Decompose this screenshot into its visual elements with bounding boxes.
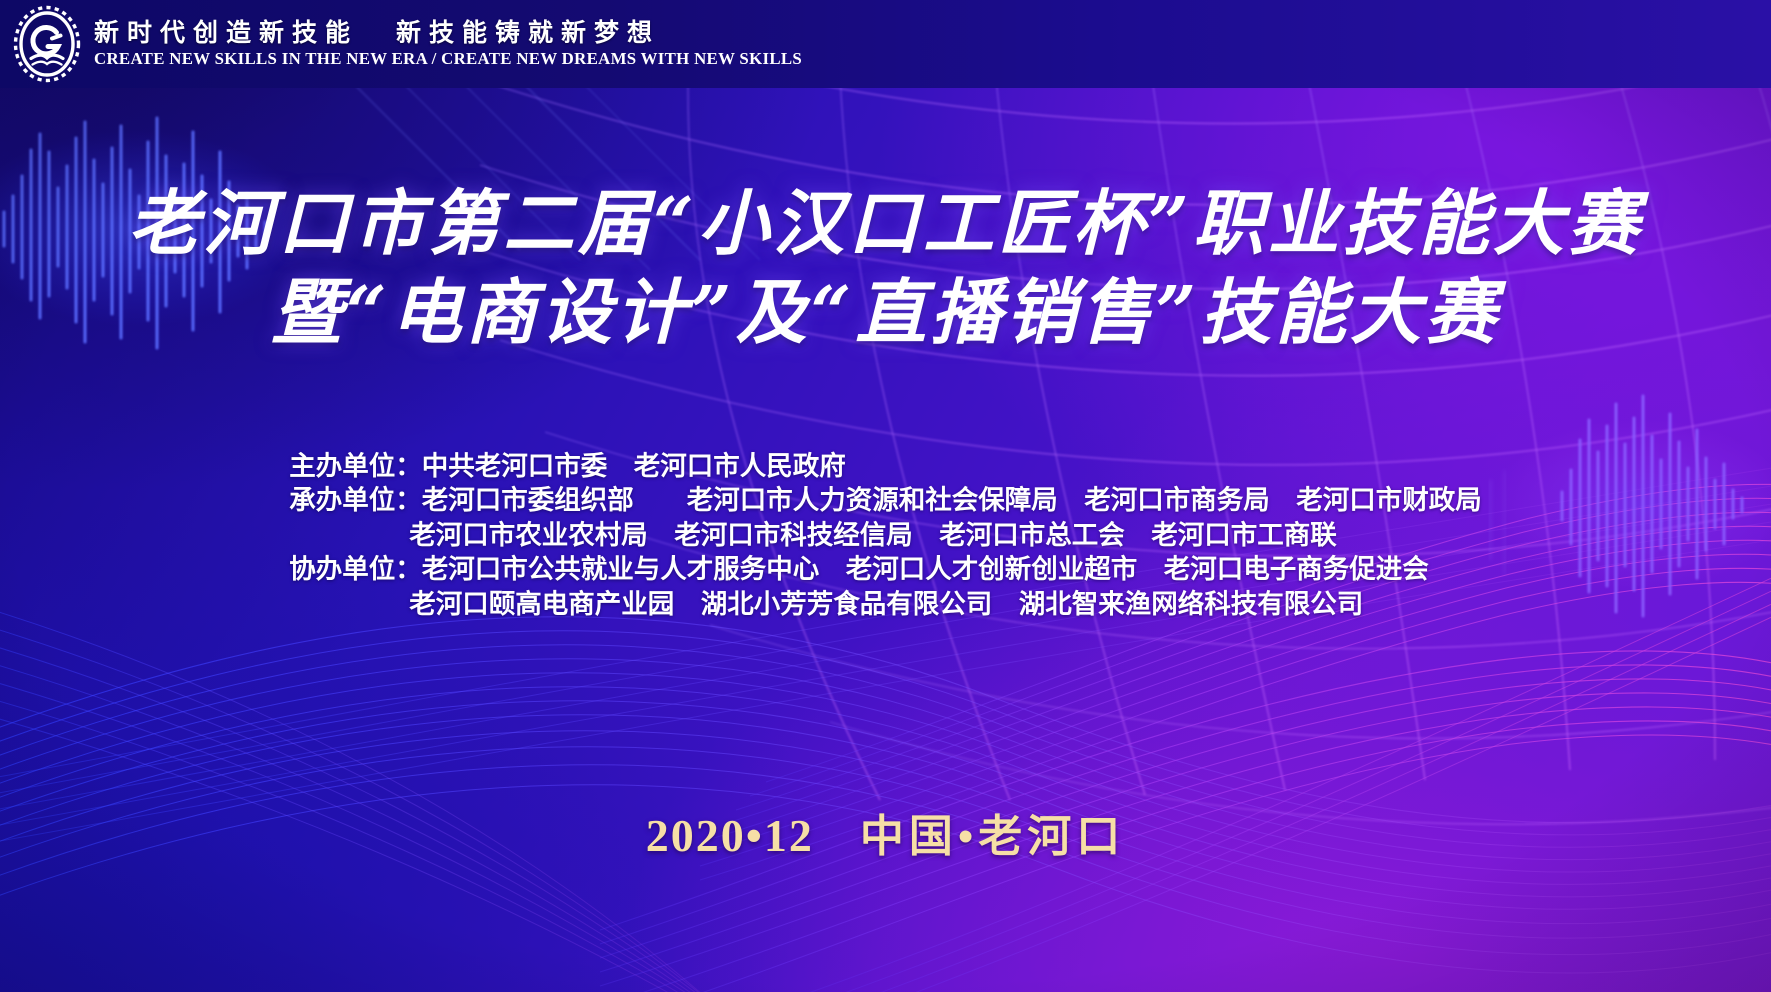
organizer-value-2: 老河口市农业农村局 老河口市科技经信局 老河口市总工会 老河口市工商联	[409, 520, 1337, 550]
header-slogan-chinese-b: 新技能铸就新梦想	[396, 20, 660, 47]
host-row: 主办单位：中共老河口市委 老河口市人民政府	[289, 449, 1482, 483]
coorganizer-label: 协办单位：	[289, 554, 422, 584]
title-line-2: 暨“电商设计”及“直播销售”技能大赛	[0, 269, 1771, 356]
organizer-value-1: 老河口市委组织部 老河口市人力资源和社会保障局 老河口市商务局 老河口市财政局	[422, 485, 1482, 515]
organization-logo	[10, 4, 84, 84]
host-label: 主办单位：	[289, 451, 422, 481]
organizer-row-1: 承办单位：老河口市委组织部 老河口市人力资源和社会保障局 老河口市商务局 老河口…	[289, 483, 1482, 517]
footer-block: 2020•12 中国•老河口	[0, 800, 1771, 864]
header-slogan-english: CREATE NEW SKILLS IN THE NEW ERA / CREAT…	[94, 49, 802, 69]
coorganizer-row-2: 老河口颐高电商产业园 湖北小芳芳食品有限公司 湖北智来渔网络科技有限公司	[289, 587, 1482, 621]
event-location: 中国•老河口	[860, 800, 1125, 864]
header-slogan-chinese-a: 新时代创造新技能	[94, 20, 358, 47]
header-bar: 新时代创造新技能新技能铸就新梦想 CREATE NEW SKILLS IN TH…	[0, 0, 1771, 88]
event-date: 2020•12	[646, 809, 814, 862]
coorganizer-value-1: 老河口市公共就业与人才服务中心 老河口人才创新创业超市 老河口电子商务促进会	[422, 554, 1429, 584]
main-title: 老河口市第二届“小汉口工匠杯”职业技能大赛 暨“电商设计”及“直播销售”技能大赛	[0, 180, 1771, 357]
poster-canvas: 新时代创造新技能新技能铸就新梦想 CREATE NEW SKILLS IN TH…	[0, 0, 1771, 992]
host-value: 中共老河口市委 老河口市人民政府	[422, 451, 846, 481]
organizer-block: 主办单位：中共老河口市委 老河口市人民政府 承办单位：老河口市委组织部 老河口市…	[0, 449, 1771, 621]
gear-emblem-icon	[12, 5, 82, 83]
organizer-label: 承办单位：	[289, 485, 422, 515]
header-slogan-chinese: 新时代创造新技能新技能铸就新梦想	[94, 19, 788, 49]
coorganizer-row-1: 协办单位：老河口市公共就业与人才服务中心 老河口人才创新创业超市 老河口电子商务…	[289, 552, 1482, 586]
title-line-1: 老河口市第二届“小汉口工匠杯”职业技能大赛	[0, 180, 1771, 267]
coorganizer-value-2: 老河口颐高电商产业园 湖北小芳芳食品有限公司 湖北智来渔网络科技有限公司	[409, 589, 1363, 619]
organizer-row-2: 老河口市农业农村局 老河口市科技经信局 老河口市总工会 老河口市工商联	[289, 518, 1482, 552]
